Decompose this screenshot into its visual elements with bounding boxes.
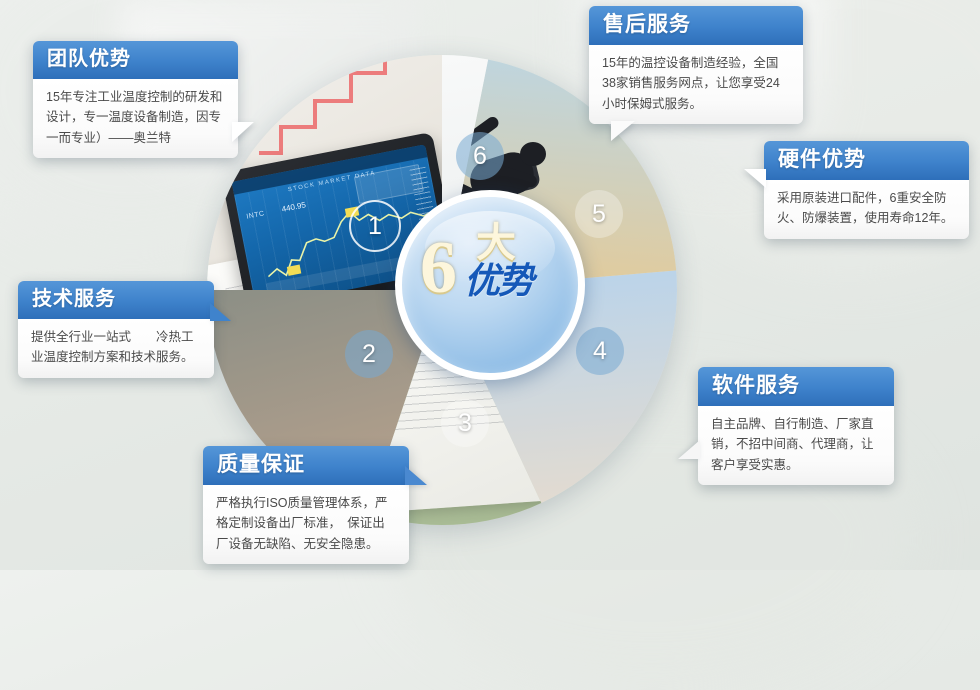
hub-script-text: 优势 [464, 263, 532, 299]
hub-content: 6 大 优势 [402, 197, 578, 373]
callout-technical-title: 技术服务 [18, 281, 214, 319]
callout-quality-body: 严格执行ISO质量管理体系，严格定制设备出厂标准， 保证出厂设备无缺陷、无安全隐… [203, 485, 409, 564]
callout-quality[interactable]: 质量保证 严格执行ISO质量管理体系，严格定制设备出厂标准， 保证出厂设备无缺陷… [203, 446, 409, 564]
callout-team-body: 15年专注工业温度控制的研发和设计，专一温度设备制造，因专一而专业）——奥兰特 [33, 79, 238, 158]
marker-3[interactable]: 3 [441, 399, 489, 447]
infographic-stage: STOCK MARKET DATA INTC 440.95 [0, 0, 980, 570]
marker-2[interactable]: 2 [345, 330, 393, 378]
callout-technical-body: 提供全行业一站式 冷热工业温度控制方案和技术服务。 [18, 319, 214, 378]
hub-big-char: 大 [476, 223, 516, 263]
marker-4[interactable]: 4 [576, 327, 624, 375]
marker-1[interactable]: 1 [349, 200, 401, 252]
callout-hardware[interactable]: 硬件优势 采用原装进口配件，6重安全防火、防爆装置，使用寿命12年。 [764, 141, 969, 239]
marker-6[interactable]: 6 [456, 132, 504, 180]
callout-after-sales-title: 售后服务 [589, 6, 803, 45]
marker-5[interactable]: 5 [575, 190, 623, 238]
callout-software-title: 软件服务 [698, 367, 894, 406]
callout-team-advantage[interactable]: 团队优势 15年专注工业温度控制的研发和设计，专一温度设备制造，因专一而专业）—… [33, 41, 238, 158]
callout-technical-tail [210, 303, 231, 321]
callout-team-title: 团队优势 [33, 41, 238, 79]
climber-head [520, 142, 546, 166]
callout-quality-title: 质量保证 [203, 446, 409, 485]
callout-software-tail [678, 440, 700, 459]
callout-after-sales[interactable]: 售后服务 15年的温控设备制造经验，全国38家销售服务网点，让您享受24小时保姆… [589, 6, 803, 124]
callout-team-tail [232, 122, 254, 142]
callout-hardware-title: 硬件优势 [764, 141, 969, 180]
callout-software-body: 自主品牌、自行制造、厂家直销，不招中间商、代理商，让客户享受实惠。 [698, 406, 894, 485]
callout-after-sales-tail [611, 121, 635, 141]
callout-quality-tail [405, 466, 427, 485]
center-hub: 6 大 优势 [395, 190, 585, 380]
callout-after-sales-body: 15年的温控设备制造经验，全国38家销售服务网点，让您享受24小时保姆式服务。 [589, 45, 803, 124]
callout-technical[interactable]: 技术服务 提供全行业一站式 冷热工业温度控制方案和技术服务。 [18, 281, 214, 378]
hub-number: 6 [420, 231, 457, 305]
callout-hardware-body: 采用原装进口配件，6重安全防火、防爆装置，使用寿命12年。 [764, 180, 969, 239]
callout-hardware-tail [744, 169, 766, 188]
callout-software[interactable]: 软件服务 自主品牌、自行制造、厂家直销，不招中间商、代理商，让客户享受实惠。 [698, 367, 894, 485]
